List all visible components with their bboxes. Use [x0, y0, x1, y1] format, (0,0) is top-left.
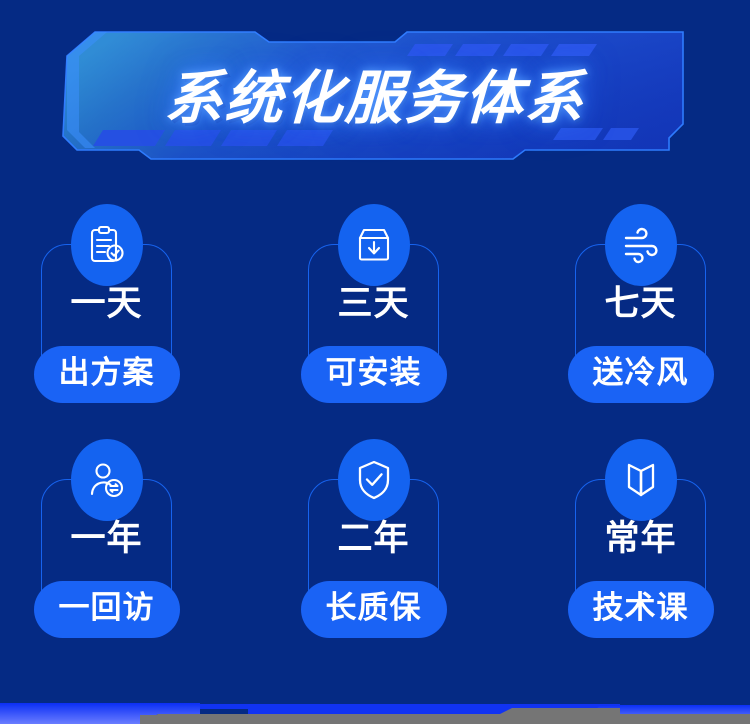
card-pill[interactable]: 技术课	[568, 581, 714, 638]
card-icon-badge	[605, 204, 677, 286]
service-card[interactable]: 二年 长质保	[308, 479, 439, 617]
person-support-icon	[88, 460, 126, 500]
clipboard-check-icon	[88, 225, 126, 265]
bottom-section-preview	[0, 684, 750, 724]
card-icon-badge	[71, 204, 143, 286]
header-banner: 系统化服务体系	[55, 28, 695, 161]
card-icon-badge	[338, 204, 410, 286]
card-title: 一年	[42, 522, 171, 557]
open-book-icon	[622, 460, 660, 500]
service-card[interactable]: 七天 送冷风	[575, 244, 706, 382]
card-pill[interactable]: 一回访	[34, 581, 180, 638]
service-card[interactable]: 三天 可安装	[308, 244, 439, 382]
card-pill-label: 一回访	[59, 593, 155, 624]
card-title: 七天	[576, 287, 705, 322]
card-pill-label: 可安装	[326, 358, 422, 389]
card-title: 二年	[309, 522, 438, 557]
card-row-2: 一年 一回访 二年 长质保	[0, 431, 750, 666]
card-pill-label: 技术课	[593, 593, 689, 624]
service-card-grid: 一天 出方案 三天 可安装	[0, 196, 750, 666]
card-title: 三天	[309, 287, 438, 322]
card-pill-label: 送冷风	[593, 358, 689, 389]
service-card[interactable]: 一天 出方案	[41, 244, 172, 382]
card-row-1: 一天 出方案 三天 可安装	[0, 196, 750, 431]
service-card[interactable]: 一年 一回访	[41, 479, 172, 617]
banner-frame-graphic	[55, 28, 695, 161]
card-title: 常年	[576, 522, 705, 557]
banner-stripes-bottom-right	[553, 128, 639, 140]
promo-page: 系统化服务体系 一天	[0, 0, 750, 724]
card-icon-badge	[605, 439, 677, 521]
card-icon-badge	[71, 439, 143, 521]
card-pill[interactable]: 出方案	[34, 346, 180, 403]
card-pill[interactable]: 送冷风	[568, 346, 714, 403]
decor-gray-base	[140, 715, 750, 724]
service-card[interactable]: 常年 技术课	[575, 479, 706, 617]
shield-check-icon	[355, 459, 393, 501]
box-download-icon	[355, 225, 393, 265]
card-pill-label: 长质保	[326, 593, 422, 624]
card-pill[interactable]: 长质保	[301, 581, 447, 638]
wind-icon	[621, 225, 661, 265]
card-pill[interactable]: 可安装	[301, 346, 447, 403]
bottom-decor-graphic	[0, 684, 750, 724]
card-icon-badge	[338, 439, 410, 521]
card-title: 一天	[42, 287, 171, 322]
card-pill-label: 出方案	[59, 358, 155, 389]
